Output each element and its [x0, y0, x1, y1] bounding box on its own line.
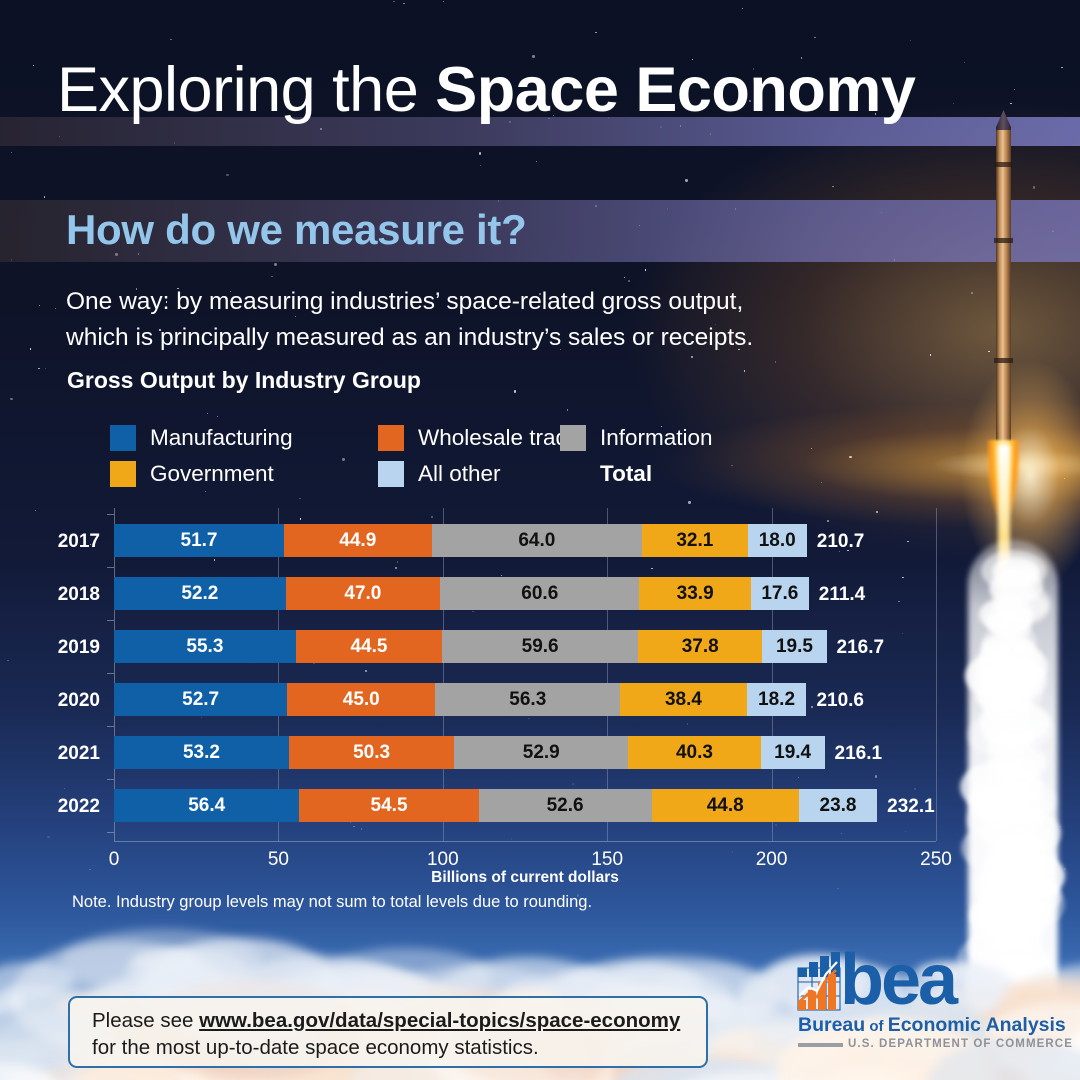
bar-segment: 51.7 — [114, 524, 284, 557]
bar-segment: 37.8 — [638, 630, 762, 663]
bar-total-label: 211.4 — [819, 584, 866, 606]
x-axis-tick-label: 150 — [577, 849, 637, 871]
x-axis-tick-label: 50 — [248, 849, 308, 871]
y-axis-tick — [107, 514, 114, 515]
bea-logo: bea Bureau of Economic Analysis U.S. DEP… — [790, 950, 1040, 1058]
bar-segment: 23.8 — [799, 789, 877, 822]
bar-segment: 55.3 — [114, 630, 296, 663]
footer-prefix: Please see — [92, 1009, 199, 1032]
bar-segment: 38.4 — [620, 683, 746, 716]
y-axis-category-label: 2018 — [30, 584, 100, 606]
y-axis-tick — [107, 567, 114, 568]
bea-bureau-word: Bureau — [798, 1014, 865, 1036]
bar-segment: 60.6 — [440, 577, 639, 610]
footer-line-2: for the most up-to-date space economy st… — [92, 1034, 684, 1061]
bar-segment: 18.2 — [747, 683, 807, 716]
bar-total-label: 210.7 — [817, 531, 865, 553]
x-axis-tick-label: 250 — [906, 849, 966, 871]
bar-segment: 52.2 — [114, 577, 286, 610]
bar-segment: 19.4 — [761, 736, 825, 769]
y-axis-category-label: 2022 — [30, 796, 100, 818]
x-axis-tick-label: 100 — [413, 849, 473, 871]
y-axis-category-label: 2017 — [30, 531, 100, 553]
bar-segment: 47.0 — [286, 577, 441, 610]
y-axis-category-label: 2021 — [30, 743, 100, 765]
bar-segment: 56.3 — [435, 683, 620, 716]
bar-segment: 64.0 — [432, 524, 642, 557]
y-axis-tick — [107, 620, 114, 621]
bea-of-word: of — [865, 1018, 888, 1035]
footer-callout: Please see www.bea.gov/data/special-topi… — [68, 996, 708, 1068]
bar-segment: 45.0 — [287, 683, 435, 716]
bea-url-link[interactable]: www.bea.gov/data/special-topics/space-ec… — [199, 1009, 680, 1032]
bar-segment: 52.9 — [454, 736, 628, 769]
bar-total-label: 216.7 — [837, 637, 885, 659]
bea-wordmark: bea — [840, 944, 955, 1016]
bar-total-label: 232.1 — [887, 796, 935, 818]
bar-segment: 52.7 — [114, 683, 287, 716]
bar-segment: 32.1 — [642, 524, 748, 557]
x-axis-tick-label: 0 — [84, 849, 144, 871]
bar-segment: 44.8 — [652, 789, 799, 822]
bar-total-label: 210.6 — [816, 690, 864, 712]
x-axis-tick-label: 200 — [742, 849, 802, 871]
infographic-page: Exploring the Space Economy How do we me… — [0, 0, 1080, 1080]
bar-segment: 54.5 — [299, 789, 478, 822]
bar-segment: 19.5 — [762, 630, 826, 663]
x-axis-title: Billions of current dollars — [375, 869, 675, 887]
stacked-bar-chart: 050100150200250201751.744.964.032.118.02… — [0, 0, 1080, 1080]
bea-logo-rule — [798, 1043, 843, 1047]
bar-segment: 44.9 — [284, 524, 432, 557]
footer-line-1: Please see www.bea.gov/data/special-topi… — [92, 1007, 684, 1034]
bar-segment: 59.6 — [442, 630, 638, 663]
chart-gridline — [936, 508, 937, 841]
bar-segment: 18.0 — [748, 524, 807, 557]
bar-segment: 52.6 — [479, 789, 652, 822]
y-axis-category-label: 2020 — [30, 690, 100, 712]
bar-segment: 33.9 — [639, 577, 750, 610]
bar-segment: 17.6 — [751, 577, 809, 610]
y-axis-tick — [107, 779, 114, 780]
bar-segment: 40.3 — [628, 736, 761, 769]
y-axis-tick — [107, 726, 114, 727]
bar-segment: 50.3 — [289, 736, 454, 769]
bar-total-label: 216.1 — [835, 743, 883, 765]
bea-department-line: U.S. DEPARTMENT OF COMMERCE — [848, 1038, 1073, 1050]
y-axis-tick — [107, 832, 114, 833]
bar-segment: 56.4 — [114, 789, 299, 822]
chart-note: Note. Industry group levels may not sum … — [72, 893, 592, 912]
y-axis-category-label: 2019 — [30, 637, 100, 659]
bea-bureau-line: Bureau of Economic Analysis — [798, 1014, 1066, 1037]
bar-segment: 53.2 — [114, 736, 289, 769]
bea-rest-words: Economic Analysis — [888, 1014, 1066, 1036]
bar-segment: 44.5 — [296, 630, 442, 663]
y-axis-tick — [107, 673, 114, 674]
x-axis-line — [114, 841, 936, 842]
